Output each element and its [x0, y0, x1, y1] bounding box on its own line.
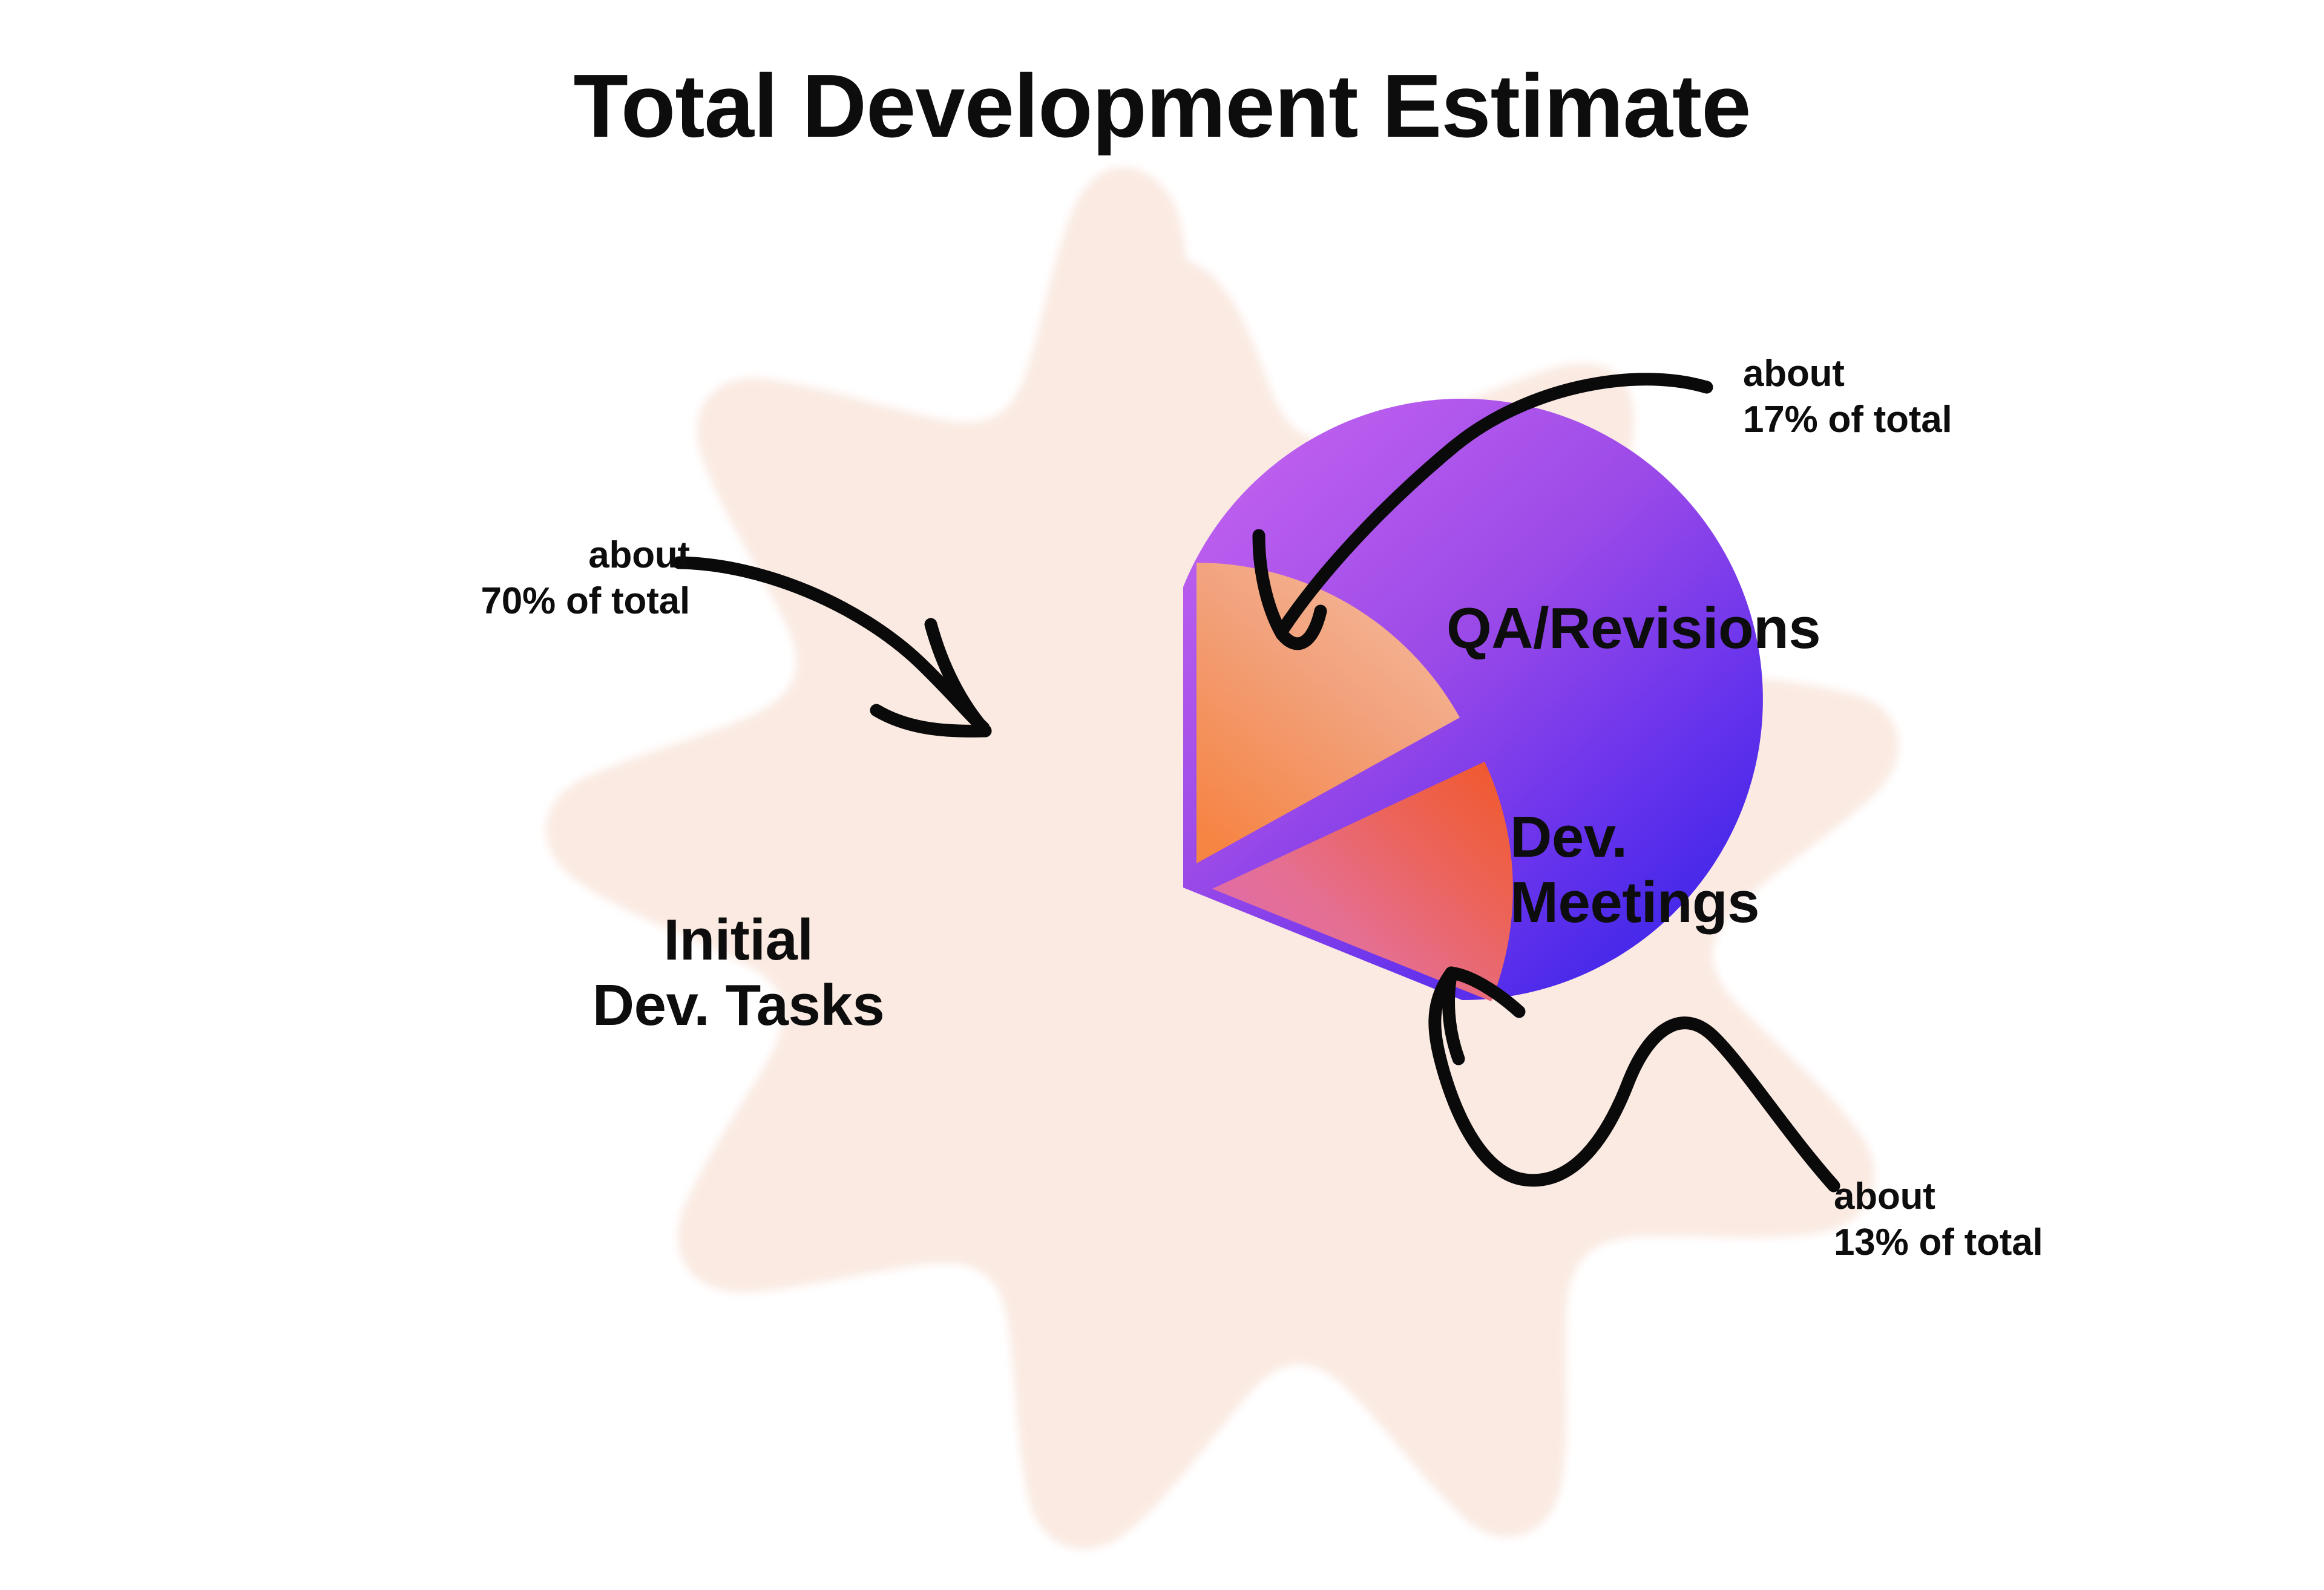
pie-chart-figure	[0, 0, 2324, 1590]
slice-label-qa-revisions: QA/Revisions	[1446, 596, 1906, 661]
callout-initial-dev-tasks: about 70% of total	[351, 532, 690, 624]
callout-dev-meetings: about 13% of total	[1834, 1174, 2209, 1265]
slice-label-dev-meetings: Dev. Meetings	[1510, 805, 1897, 935]
slice-label-initial-dev-tasks: Initial Dev. Tasks	[533, 908, 944, 1038]
callout-qa-revisions: about 17% of total	[1743, 351, 2118, 442]
chart-canvas: Total Development Estimate	[0, 0, 2324, 1590]
